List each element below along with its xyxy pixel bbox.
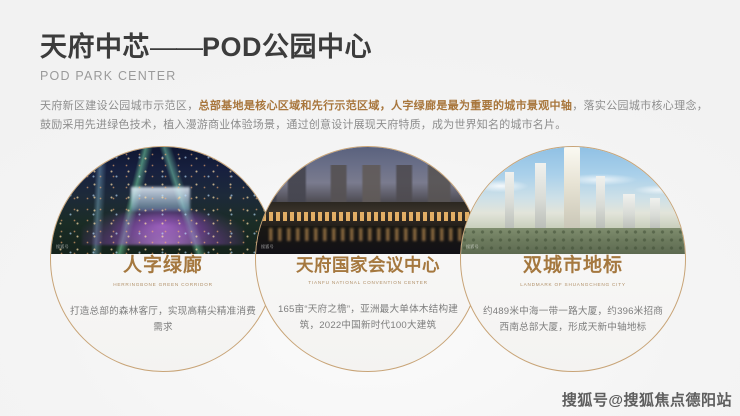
crowd-glow-shape	[82, 209, 245, 246]
stage-light-shape	[131, 187, 190, 211]
card-photo-skyscraper-towers: 搜狐号	[460, 146, 686, 254]
night-concert-scene-icon	[50, 146, 276, 254]
ground-greenery-shape	[460, 228, 686, 254]
feature-card-tianfu-national-convention-center[interactable]: 搜狐号 天府国家会议中心 TIANFU NATIONAL CONVENTION …	[255, 146, 481, 372]
card-photo-night-park-concert: 搜狐号	[50, 146, 276, 254]
water-reflection-shape	[255, 226, 481, 254]
card-description: 165亩“天府之檐”，亚洲最大单体木结构建筑，2022中国新时代100大建筑	[274, 302, 462, 334]
tower-shape	[596, 176, 605, 230]
card-description: 打造总部的森林客厅，实现高精尖精准消费需求	[69, 304, 257, 336]
skyline-shape	[255, 165, 481, 204]
card-body: 天府国家会议中心 TIANFU NATIONAL CONVENTION CENT…	[256, 255, 480, 334]
tower-shape	[505, 172, 514, 230]
page-subtitle-en: POD PARK CENTER	[40, 69, 372, 83]
card-subtitle-en: LANDMARK OF SHUANGCHENG CITY	[477, 282, 669, 287]
photo-watermark: 搜狐号	[466, 244, 479, 250]
intro-highlight: 总部基地是核心区域和先行示范区域，人字绿廊是最为重要的城市景观中轴	[199, 100, 573, 112]
feature-cards: 搜狐号 人字绿廊 HERRINGBONE GREEN CORRIDOR 打造总部…	[0, 146, 740, 378]
skyscraper-towers-scene-icon	[460, 146, 686, 254]
source-watermark: 搜狐号@搜狐焦点德阳站	[562, 389, 732, 410]
slide-root: 天府中芯——POD公园中心 POD PARK CENTER 天府新区建设公园城市…	[0, 0, 740, 416]
card-photo-convention-center: 搜狐号	[255, 146, 481, 254]
card-title: 天府国家会议中心	[274, 255, 462, 276]
tower-shape	[535, 163, 546, 230]
card-subtitle-en: HERRINGBONE GREEN CORRIDOR	[67, 282, 259, 287]
card-title: 人字绿廊	[69, 255, 257, 278]
tower-shape	[650, 198, 660, 230]
page-title-part-b: POD公园中心	[202, 32, 372, 62]
feature-card-herringbone-green-corridor[interactable]: 搜狐号 人字绿廊 HERRINGBONE GREEN CORRIDOR 打造总部…	[50, 146, 276, 372]
feature-card-landmark-of-shuangcheng-city[interactable]: 搜狐号 双城市地标 LANDMARK OF SHUANGCHENG CITY 约…	[460, 146, 686, 372]
page-header: 天府中芯——POD公园中心 POD PARK CENTER	[40, 32, 372, 83]
card-body: 人字绿廊 HERRINGBONE GREEN CORRIDOR 打造总部的森林客…	[51, 255, 275, 336]
card-body: 双城市地标 LANDMARK OF SHUANGCHENG CITY 约489米…	[461, 255, 685, 336]
photo-watermark: 搜狐号	[261, 244, 274, 250]
page-title-dash: ——	[150, 32, 202, 62]
tower-shape	[623, 194, 635, 231]
photo-watermark: 搜狐号	[56, 244, 69, 250]
card-subtitle-en: TIANFU NATIONAL CONVENTION CENTER	[272, 280, 464, 285]
page-title: 天府中芯——POD公园中心	[40, 32, 372, 64]
convention-center-scene-icon	[255, 146, 481, 254]
card-description: 约489米中海一带一路大厦，约396米招商西南总部大厦，形成天新中轴地标	[479, 304, 667, 336]
intro-paragraph: 天府新区建设公园城市示范区，总部基地是核心区域和先行示范区域，人字绿廊是最为重要…	[40, 97, 708, 135]
intro-text-part-1: 天府新区建设公园城市示范区，	[40, 100, 199, 112]
card-title: 双城市地标	[479, 255, 667, 278]
main-tower-shape	[564, 146, 580, 230]
convention-hall-shape	[255, 202, 481, 226]
page-title-part-a: 天府中芯	[40, 32, 150, 62]
